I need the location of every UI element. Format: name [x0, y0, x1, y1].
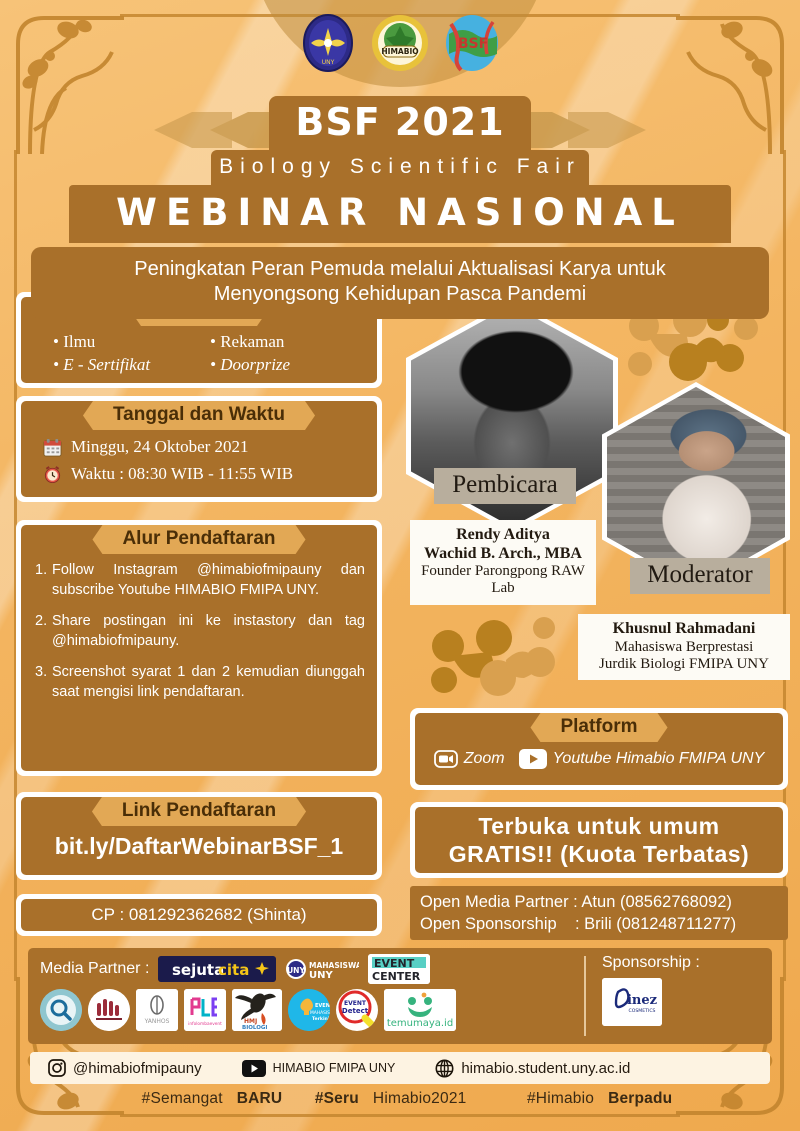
mahasiswa-uny-logo: UNY MAHASISWA UNY: [285, 956, 359, 982]
partners-divider: [584, 956, 586, 1036]
terbuka-line-1: Terbuka untuk umum: [478, 812, 719, 840]
tagline-line-2: Menyongsong Kehidupan Pasca Pandemi: [47, 282, 753, 307]
svg-text:CENTER: CENTER: [372, 970, 421, 983]
himabio-logo: HIMABIO: [369, 12, 431, 74]
svg-text:EVENT: EVENT: [344, 1000, 367, 1007]
alur-step-number: 1.: [35, 560, 52, 600]
time-row: Waktu : 08:30 WIB - 11:55 WIB: [43, 464, 367, 484]
event-mahasiswa-terkini-logo: EVENT MAHASISWA Terkini: [288, 989, 330, 1031]
hashtag-2: #SeruHimabio2021: [315, 1090, 481, 1107]
event-center-logo: EVENT CENTER: [368, 954, 430, 984]
alur-step-list: 1. Follow Instagram @himabiofmipauny dan…: [35, 560, 365, 702]
contact-person-card: CP : 081292362682 (Shinta): [16, 894, 382, 936]
infolomba-search-logo: [40, 989, 82, 1031]
fasilitas-item: E - Sertifikat: [53, 355, 210, 375]
speaker-title-line2: Lab: [420, 580, 586, 597]
alur-step-number: 2.: [35, 611, 52, 651]
media-partner-section: Media Partner : sejuta cita UNY MAHASISW…: [28, 948, 578, 1044]
terbuka-gratis-card: Terbuka untuk umum GRATIS!! (Kuota Terba…: [410, 802, 788, 878]
event-detect-logo: EVENT Detect: [336, 989, 378, 1031]
platform-item-zoom: Zoom: [434, 748, 505, 770]
yanhos-logo: YANHOS: [136, 989, 178, 1031]
sponsorship-label: Sponsorship :: [602, 954, 762, 972]
hmj-biologi-logo: HMJ BIOLOGI: [232, 989, 282, 1031]
alur-step-text: Share postingan ini ke instastory dan ta…: [52, 611, 365, 651]
svg-text:COSMETICS: COSMETICS: [629, 1008, 656, 1014]
terbuka-line-2: GRATIS!! (Kuota Terbatas): [449, 840, 749, 868]
alur-step: 3. Screenshot syarat 1 dan 2 kemudian di…: [35, 662, 365, 702]
event-code: BSF 2021: [269, 96, 530, 150]
temumaya-id-logo: temumaya.id: [384, 989, 456, 1031]
link-pendaftaran-card[interactable]: Link Pendaftaran bit.ly/DaftarWebinarBSF…: [16, 792, 382, 880]
event-tagline: Peningkatan Peran Pemuda melalui Aktuali…: [31, 247, 769, 319]
svg-text:YANHOS: YANHOS: [144, 1018, 170, 1025]
media-partner-logo-row: YANHOS infolombaevent HMJ BIOLOGI: [40, 989, 570, 1031]
platform-list: Zoom Youtube Himabio FMIPA UNY: [425, 748, 773, 770]
calendar-icon: [43, 438, 62, 457]
media-partner-label: Media Partner :: [40, 960, 149, 978]
open-media-partner-text: Open Media Partner : Atun (08562768092): [420, 891, 778, 913]
partners-bar: Media Partner : sejuta cita UNY MAHASISW…: [28, 948, 772, 1044]
fasilitas-list: Ilmu Rekaman E - Sertifikat Doorprize: [31, 332, 367, 375]
svg-text:infolombaevent: infolombaevent: [188, 1021, 222, 1027]
fasilitas-item: Doorprize: [210, 355, 367, 375]
border-line-bottom: [120, 1114, 680, 1117]
svg-text:UNY: UNY: [287, 966, 305, 975]
alarm-clock-icon: [43, 465, 62, 484]
youtube-icon: [519, 749, 547, 769]
inez-cosmetics-logo: inez COSMETICS: [602, 978, 662, 1026]
svg-text:EVENT: EVENT: [374, 957, 415, 970]
hashtag-3: #HimabioBerpadu: [513, 1090, 672, 1107]
svg-text:HIMABIO: HIMABIO: [381, 47, 418, 56]
speaker-title-line1: Founder Parongpong RAW: [420, 563, 586, 580]
speaker-role-label: Pembicara: [434, 468, 576, 504]
alur-step: 2. Share postingan ini ke instastory dan…: [35, 611, 365, 651]
youtube-channel: HIMABIO FMIPA UNY: [273, 1061, 396, 1075]
alur-step-number: 3.: [35, 662, 52, 702]
platform-card: Platform Zoom Youtube Himabio FMIPA U: [410, 708, 788, 790]
moderator-title-line1: Mahasiswa Berprestasi: [588, 639, 780, 656]
svg-text:MAHASISWA: MAHASISWA: [309, 961, 359, 970]
molecule-decoration-bottom: [424, 612, 570, 698]
alur-step-text: Screenshot syarat 1 dan 2 kemudian diung…: [52, 662, 365, 702]
menara-ilmu-logo: [88, 989, 130, 1031]
svg-text:cita: cita: [218, 961, 249, 979]
event-type: WEBINAR NASIONAL: [69, 185, 731, 243]
instagram-handle: @himabiofmipauny: [73, 1060, 202, 1077]
website-url: himabio.student.uny.ac.id: [461, 1060, 630, 1077]
link-title: Link Pendaftaran: [92, 797, 306, 826]
svg-text:Detect: Detect: [342, 1007, 369, 1015]
sejutacita-logo: sejuta cita: [158, 956, 276, 982]
moderator-name-plate: Khusnul Rahmadani Mahasiswa Berprestasi …: [578, 614, 790, 680]
fasilitas-item: Ilmu: [53, 332, 210, 352]
instagram-icon: [48, 1059, 66, 1077]
platform-title: Platform: [530, 713, 667, 742]
alur-step: 1. Follow Instagram @himabiofmipauny dan…: [35, 560, 365, 600]
contact-website[interactable]: himabio.student.uny.ac.id: [435, 1059, 630, 1078]
fasilitas-item: Rekaman: [210, 332, 367, 352]
uny-logo: UNY: [297, 12, 359, 74]
social-contact-bar: @himabiofmipauny HIMABIO FMIPA UNY himab…: [30, 1052, 770, 1084]
svg-text:sejuta: sejuta: [172, 961, 224, 979]
platform-label: Youtube Himabio FMIPA UNY: [553, 750, 765, 768]
contact-instagram[interactable]: @himabiofmipauny: [48, 1059, 202, 1077]
moderator-title-line2: Jurdik Biologi FMIPA UNY: [588, 656, 780, 673]
tanggal-title: Tanggal dan Waktu: [83, 401, 315, 430]
svg-text:BSF: BSF: [458, 36, 488, 52]
moderator-role-label: Moderator: [630, 558, 770, 594]
bsf-globe-logo: BSF: [441, 12, 503, 74]
poster-canvas: UNY HIMABIO BSF: [0, 0, 800, 1131]
time-text: Waktu : 08:30 WIB - 11:55 WIB: [71, 464, 293, 484]
tanggal-waktu-card: Tanggal dan Waktu Minggu, 24 Oktober 202…: [16, 396, 382, 502]
registration-link[interactable]: bit.ly/DaftarWebinarBSF_1: [31, 833, 367, 860]
hashtag-row: #SemangatBARU #SeruHimabio2021 #HimabioB…: [0, 1090, 800, 1108]
open-sponsorship-text: Open Sponsorship : Brili (081248711277): [420, 913, 778, 935]
speaker-name: Rendy Aditya: [420, 526, 586, 545]
speaker-name-plate: Rendy Aditya Wachid B. Arch., MBA Founde…: [410, 520, 596, 605]
title-block: BSF 2021 Biology Scientific Fair WEBINAR…: [0, 96, 800, 319]
platform-label: Zoom: [464, 750, 505, 768]
sponsorship-section: Sponsorship : inez COSMETICS: [592, 948, 772, 1044]
speaker-name-line2: Wachid B. Arch., MBA: [420, 545, 586, 564]
alur-pendaftaran-card: Alur Pendaftaran 1. Follow Instagram @hi…: [16, 520, 382, 776]
event-name: Biology Scientific Fair: [211, 150, 589, 185]
svg-text:UNY: UNY: [309, 970, 333, 981]
svg-text:HMJ: HMJ: [244, 1018, 257, 1025]
svg-text:Terkini: Terkini: [312, 1016, 330, 1022]
alur-title: Alur Pendaftaran: [92, 525, 305, 554]
svg-text:MAHASISWA: MAHASISWA: [310, 1010, 330, 1016]
date-row: Minggu, 24 Oktober 2021: [43, 437, 367, 457]
youtube-icon: [242, 1060, 266, 1077]
contact-youtube[interactable]: HIMABIO FMIPA UNY: [242, 1060, 396, 1077]
globe-icon: [435, 1059, 454, 1078]
moderator-photo: [607, 387, 785, 587]
platform-item-youtube: Youtube Himabio FMIPA UNY: [519, 749, 765, 769]
svg-text:BIOLOGI: BIOLOGI: [242, 1025, 267, 1031]
tagline-line-1: Peningkatan Peran Pemuda melalui Aktuali…: [47, 257, 753, 282]
logo-row: UNY HIMABIO BSF: [0, 12, 800, 74]
open-contacts-box: Open Media Partner : Atun (08562768092) …: [410, 886, 788, 940]
hashtag-1: #SemangatBARU: [128, 1090, 283, 1107]
svg-text:temumaya.id: temumaya.id: [387, 1018, 453, 1029]
ple-logo: infolombaevent: [184, 989, 226, 1031]
zoom-icon: [434, 748, 458, 770]
date-text: Minggu, 24 Oktober 2021: [71, 437, 249, 457]
media-partner-top-row: Media Partner : sejuta cita UNY MAHASISW…: [40, 954, 570, 984]
alur-step-text: Follow Instagram @himabiofmipauny dan su…: [52, 560, 365, 600]
contact-person-text: CP : 081292362682 (Shinta): [91, 905, 306, 925]
moderator-name: Khusnul Rahmadani: [588, 620, 780, 639]
svg-text:inez: inez: [627, 993, 657, 1008]
svg-text:EVENT: EVENT: [315, 1003, 330, 1009]
svg-text:UNY: UNY: [322, 59, 335, 66]
